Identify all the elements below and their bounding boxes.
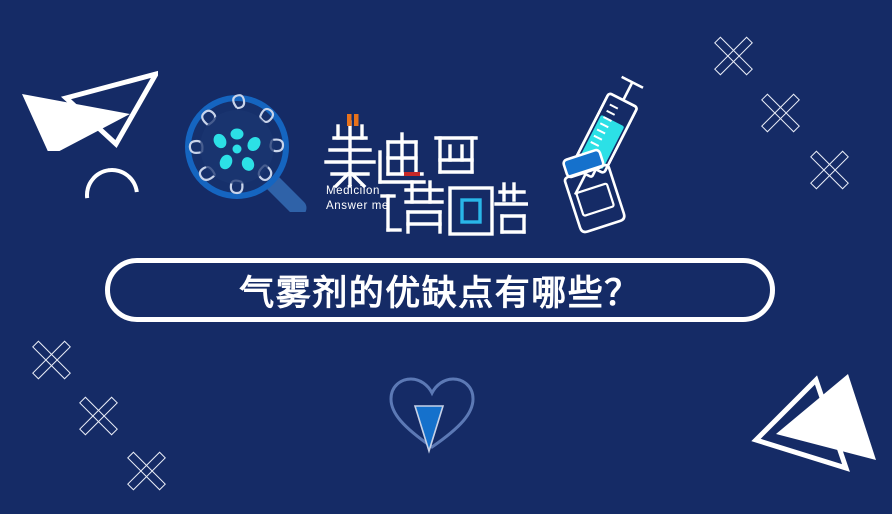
x-mark-icon [806,147,852,193]
logo-english-text: Medicilon Answer me [326,184,389,214]
vial-icon [550,148,636,243]
logo-characters-icon [318,112,528,237]
page-title: 气雾剂的优缺点有哪些？ [239,265,641,316]
brand-logo: Medicilon Answer me [318,112,528,237]
logo-accent-red-icon [404,172,420,176]
magnifier-virus-icon [182,92,317,217]
poster-canvas: Medicilon Answer me 气雾剂的优缺点有哪些？ [0,0,892,514]
x-mark-icon [75,393,121,439]
logo-accent-orange-icon [354,114,359,126]
headline-pill: 气雾剂的优缺点有哪些？ [105,258,775,322]
x-mark-icon [28,337,74,383]
arc-icon [74,157,150,233]
logo-company-name: Medicilon [326,184,389,199]
logo-tagline: Answer me [326,199,389,214]
x-mark-icon [123,448,169,494]
triangle-pair-bottom-right-icon [748,372,892,507]
triangle-pair-top-left-icon [8,26,158,156]
x-mark-icon [710,33,756,79]
heart-arrow-icon [385,373,480,460]
x-mark-icon [757,90,803,136]
logo-accent-orange-icon [347,114,352,126]
